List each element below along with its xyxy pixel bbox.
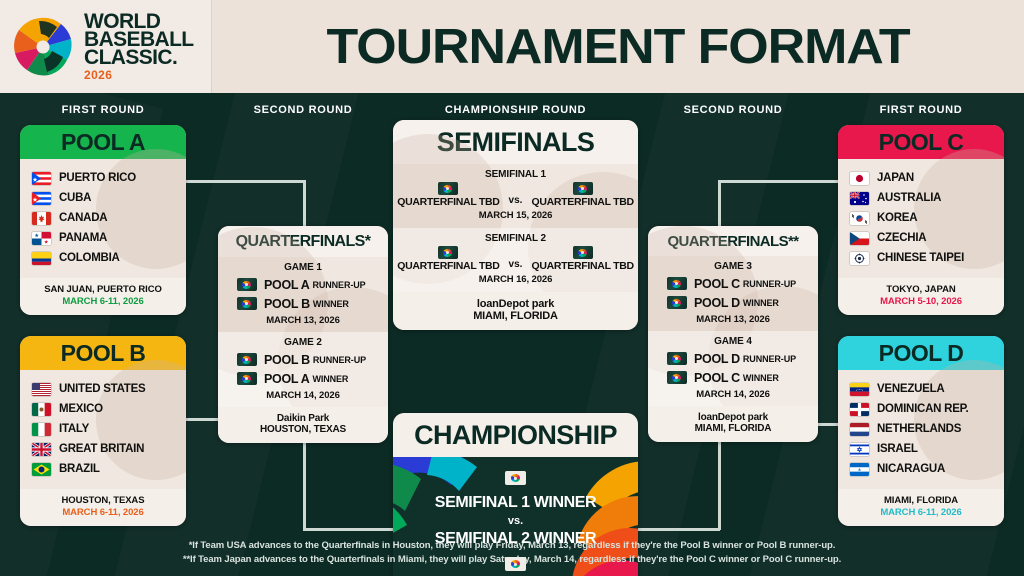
- connector-qf-left-up: [303, 180, 306, 226]
- venue-name: loanDepot park: [393, 298, 638, 310]
- netherlands-flag-icon: [850, 423, 869, 436]
- championship-team-1: SEMIFINAL 1 WINNER: [393, 494, 638, 512]
- quarterfinals-right-body: GAME 3 POOL C RUNNER-UP POOL D WINNER MA…: [648, 256, 818, 406]
- team-name: GREAT BRITAIN: [59, 443, 144, 455]
- pool-c-team-list: JAPAN: [838, 159, 1004, 272]
- team-name: KOREA: [877, 212, 917, 224]
- list-item: DOMINICAN REP.: [838, 399, 1004, 419]
- semifinal-right-team: QUARTERFINAL TBD: [531, 196, 633, 208]
- list-item: PUERTO RICO: [20, 168, 186, 188]
- list-item: UNITED STATES: [20, 379, 186, 399]
- list-item: ISRAEL: [838, 439, 1004, 459]
- quarterfinals-left-title: QUARTERFINALS*: [218, 226, 388, 257]
- matchup-team-sub: WINNER: [313, 299, 349, 309]
- round-label-second-left: SECOND ROUND: [218, 104, 388, 116]
- matchup-team-sub: RUNNER-UP: [743, 354, 796, 364]
- pool-d-dates: MARCH 6-11, 2026: [838, 507, 1004, 518]
- game-date: MARCH 13, 2026: [218, 315, 388, 326]
- wbc-pinwheel-logo-icon: [10, 14, 76, 80]
- japan-flag-icon: [850, 172, 869, 185]
- pool-c-header: POOL C: [838, 125, 1004, 159]
- list-item: CUBA: [20, 188, 186, 208]
- matchup-row: POOL D WINNER: [648, 293, 818, 312]
- semifinal-left-team: QUARTERFINAL TBD: [397, 196, 499, 208]
- wbc-logo-chip-icon: [237, 278, 257, 291]
- colombia-flag-icon: [32, 252, 51, 265]
- quarterfinals-left-card[interactable]: QUARTERFINALS* GAME 1 POOL A RUNNER-UP P…: [218, 226, 388, 443]
- venue-name: loanDepot park: [648, 412, 818, 423]
- team-name: PUERTO RICO: [59, 172, 136, 184]
- matchup-team-sub: WINNER: [312, 374, 348, 384]
- list-item: BRAZIL: [20, 459, 186, 479]
- matchup-team-main: POOL D: [694, 296, 740, 310]
- team-name: MEXICO: [59, 403, 103, 415]
- bracket-board: FIRST ROUND SECOND ROUND CHAMPIONSHIP RO…: [0, 93, 1024, 576]
- list-item: KOREA: [838, 208, 1004, 228]
- list-item: CHINESE TAIPEI: [838, 248, 1004, 268]
- venue-city: MIAMI, FLORIDA: [393, 310, 638, 322]
- czechia-flag-icon: [850, 232, 869, 245]
- dominican-republic-flag-icon: [850, 403, 869, 416]
- game-block: GAME 2 POOL B RUNNER-UP POOL A WINNER MA…: [218, 332, 388, 407]
- matchup-team-sub: WINNER: [743, 373, 779, 383]
- wbc-logo-chip-icon: [438, 246, 458, 259]
- team-name: ITALY: [59, 423, 89, 435]
- semifinal-right-side: QUARTERFINAL TBD: [531, 182, 633, 208]
- pool-d-header: POOL D: [838, 336, 1004, 370]
- semifinal-left-side: QUARTERFINAL TBD: [397, 246, 499, 272]
- nicaragua-flag-icon: [850, 463, 869, 476]
- pool-c-footer: TOKYO, JAPAN MARCH 5-10, 2026: [838, 278, 1004, 315]
- list-item: NICARAGUA: [838, 459, 1004, 479]
- pool-a-dates: MARCH 6-11, 2026: [20, 296, 186, 307]
- semifinal-label: SEMIFINAL 1: [393, 169, 638, 180]
- semifinal-block: SEMIFINAL 2 QUARTERFINAL TBD vs. QUARTER…: [393, 228, 638, 292]
- semifinals-venue: loanDepot park MIAMI, FLORIDA: [393, 292, 638, 330]
- championship-card[interactable]: CHAMPIONSHIP: [393, 413, 638, 576]
- round-label-second-right: SECOND ROUND: [648, 104, 818, 116]
- list-item: PANAMA: [20, 228, 186, 248]
- matchup-row: POOL B RUNNER-UP: [218, 350, 388, 369]
- pool-card-a[interactable]: POOL A PUERTO RICO: [20, 125, 186, 315]
- wbc-logo-wordmark: WORLD BASEBALL CLASSIC. 2026: [84, 13, 194, 81]
- round-label-first-right: FIRST ROUND: [838, 104, 1004, 116]
- team-name: VENEZUELA: [877, 383, 944, 395]
- semifinal-date: MARCH 15, 2026: [393, 210, 638, 221]
- pool-b-header: POOL B: [20, 336, 186, 370]
- game-date: MARCH 14, 2026: [218, 390, 388, 401]
- wbc-logo-chip-icon: [667, 371, 687, 384]
- venezuela-flag-icon: [850, 383, 869, 396]
- puerto-rico-flag-icon: [32, 172, 51, 185]
- pool-d-title: POOL D: [879, 340, 964, 367]
- list-item: COLOMBIA: [20, 248, 186, 268]
- matchup-team-main: POOL C: [694, 371, 740, 385]
- team-name: ISRAEL: [877, 443, 918, 455]
- pool-a-header: POOL A: [20, 125, 186, 159]
- championship-content: SEMIFINAL 1 WINNER vs. SEMIFINAL 2 WINNE…: [393, 471, 638, 576]
- game-date: MARCH 14, 2026: [648, 389, 818, 400]
- game-label: GAME 1: [218, 262, 388, 273]
- list-item: CANADA: [20, 208, 186, 228]
- semifinals-card[interactable]: SEMIFINALS SEMIFINAL 1 QUARTERFINAL TBD …: [393, 120, 638, 330]
- semifinals-title: SEMIFINALS: [393, 120, 638, 164]
- connector-qf-right-to-center: [628, 528, 720, 531]
- matchup-team-main: POOL C: [694, 277, 740, 291]
- championship-team-2: SEMIFINAL 2 WINNER: [393, 530, 638, 548]
- semifinal-right-team: QUARTERFINAL TBD: [531, 260, 633, 272]
- matchup-team-sub: RUNNER-UP: [312, 280, 365, 290]
- matchup-team-main: POOL A: [264, 278, 309, 292]
- connector-qf-left-to-center: [303, 528, 403, 531]
- versus-label: vs.: [509, 248, 523, 270]
- game-label: GAME 3: [648, 261, 818, 272]
- wbc-logo-chip-icon: [505, 471, 526, 485]
- australia-flag-icon: [850, 192, 869, 205]
- list-item: VENEZUELA: [838, 379, 1004, 399]
- team-name: PANAMA: [59, 232, 107, 244]
- team-name: NICARAGUA: [877, 463, 945, 475]
- team-name: JAPAN: [877, 172, 914, 184]
- brazil-flag-icon: [32, 463, 51, 476]
- chinese-taipei-flag-icon: [850, 252, 869, 265]
- semifinal-matchup: QUARTERFINAL TBD vs. QUARTERFINAL TBD: [393, 182, 638, 208]
- connector-qf-right-up: [718, 180, 721, 226]
- pool-card-d[interactable]: POOL D: [838, 336, 1004, 526]
- logo-line-classic: CLASSIC.: [84, 49, 194, 67]
- team-name: BRAZIL: [59, 463, 100, 475]
- list-item: CZECHIA: [838, 228, 1004, 248]
- canada-flag-icon: [32, 212, 51, 225]
- matchup-row: POOL A RUNNER-UP: [218, 275, 388, 294]
- italy-flag-icon: [32, 423, 51, 436]
- korea-flag-icon: [850, 212, 869, 225]
- page-title: TOURNAMENT FORMAT: [326, 19, 909, 75]
- list-item: MEXICO: [20, 399, 186, 419]
- pool-card-c[interactable]: POOL C JAPAN: [838, 125, 1004, 315]
- quarterfinals-left-venue: Daikin Park HOUSTON, TEXAS: [218, 407, 388, 443]
- pool-c-title: POOL C: [879, 129, 964, 156]
- semifinal-block: SEMIFINAL 1 QUARTERFINAL TBD vs. QUARTER…: [393, 164, 638, 228]
- round-label-championship: CHAMPIONSHIP ROUND: [393, 104, 638, 116]
- great-britain-flag-icon: [32, 443, 51, 456]
- semifinal-date: MARCH 16, 2026: [393, 274, 638, 285]
- connector-pool-c-horizontal: [718, 180, 838, 183]
- pool-b-title: POOL B: [61, 340, 146, 367]
- semifinals-body: SEMIFINAL 1 QUARTERFINAL TBD vs. QUARTER…: [393, 164, 638, 292]
- united-states-flag-icon: [32, 383, 51, 396]
- pool-a-team-list: PUERTO RICO CUBA: [20, 159, 186, 272]
- championship-body: SEMIFINAL 1 WINNER vs. SEMIFINAL 2 WINNE…: [393, 457, 638, 576]
- wbc-logo-chip-icon: [667, 352, 687, 365]
- page-title-zone: TOURNAMENT FORMAT: [212, 0, 1024, 93]
- team-name: AUSTRALIA: [877, 192, 941, 204]
- wbc-logo-chip-icon: [667, 296, 687, 309]
- tournament-format-graphic: WORLD BASEBALL CLASSIC. 2026 TOURNAMENT …: [0, 0, 1024, 576]
- wbc-logo-chip-icon: [438, 182, 458, 195]
- matchup-team-sub: WINNER: [743, 298, 779, 308]
- semifinal-label: SEMIFINAL 2: [393, 233, 638, 244]
- pool-b-footer: HOUSTON, TEXAS MARCH 6-11, 2026: [20, 489, 186, 526]
- matchup-team-main: POOL D: [694, 352, 740, 366]
- pool-b-team-list: UNITED STATES MEXICO: [20, 370, 186, 483]
- versus-label: vs.: [393, 515, 638, 527]
- matchup-team-main: POOL B: [264, 353, 310, 367]
- game-block: GAME 4 POOL D RUNNER-UP POOL C WINNER MA…: [648, 331, 818, 406]
- wbc-logo-chip-icon: [667, 277, 687, 290]
- semifinal-left-side: QUARTERFINAL TBD: [397, 182, 499, 208]
- pool-d-team-list: VENEZUELA DOMINICAN REP.: [838, 370, 1004, 483]
- mexico-flag-icon: [32, 403, 51, 416]
- matchup-team-main: POOL B: [264, 297, 310, 311]
- list-item: NETHERLANDS: [838, 419, 1004, 439]
- versus-label: vs.: [509, 184, 523, 206]
- game-date: MARCH 13, 2026: [648, 314, 818, 325]
- israel-flag-icon: [850, 443, 869, 456]
- team-name: DOMINICAN REP.: [877, 403, 969, 415]
- round-label-first-left: FIRST ROUND: [20, 104, 186, 116]
- game-block: GAME 3 POOL C RUNNER-UP POOL D WINNER MA…: [648, 256, 818, 331]
- quarterfinals-right-venue: loanDepot park MIAMI, FLORIDA: [648, 406, 818, 442]
- game-label: GAME 2: [218, 337, 388, 348]
- semifinal-left-team: QUARTERFINAL TBD: [397, 260, 499, 272]
- semifinal-matchup: QUARTERFINAL TBD vs. QUARTERFINAL TBD: [393, 246, 638, 272]
- pool-b-dates: MARCH 6-11, 2026: [20, 507, 186, 518]
- pool-a-title: POOL A: [61, 129, 145, 156]
- pool-d-venue: MIAMI, FLORIDA: [838, 495, 1004, 506]
- wbc-logo-chip-icon: [573, 182, 593, 195]
- team-name: UNITED STATES: [59, 383, 145, 395]
- list-item: GREAT BRITAIN: [20, 439, 186, 459]
- team-name: CUBA: [59, 192, 91, 204]
- wbc-logo-chip-icon: [573, 246, 593, 259]
- matchup-team-main: POOL A: [264, 372, 309, 386]
- pool-a-footer: SAN JUAN, PUERTO RICO MARCH 6-11, 2026: [20, 278, 186, 315]
- quarterfinals-left-body: GAME 1 POOL A RUNNER-UP POOL B WINNER MA…: [218, 257, 388, 407]
- matchup-team-sub: RUNNER-UP: [743, 279, 796, 289]
- matchup-team-sub: RUNNER-UP: [313, 355, 366, 365]
- cuba-flag-icon: [32, 192, 51, 205]
- venue-city: MIAMI, FLORIDA: [648, 423, 818, 434]
- team-name: CZECHIA: [877, 232, 926, 244]
- game-block: GAME 1 POOL A RUNNER-UP POOL B WINNER MA…: [218, 257, 388, 332]
- team-name: CHINESE TAIPEI: [877, 252, 964, 264]
- wbc-logo-chip-icon: [237, 372, 257, 385]
- matchup-row: POOL C WINNER: [648, 368, 818, 387]
- pool-d-footer: MIAMI, FLORIDA MARCH 6-11, 2026: [838, 489, 1004, 526]
- quarterfinals-right-title: QUARTERFINALS**: [648, 226, 818, 256]
- pool-a-venue: SAN JUAN, PUERTO RICO: [20, 284, 186, 295]
- team-name: COLOMBIA: [59, 252, 120, 264]
- list-item: AUSTRALIA: [838, 188, 1004, 208]
- semifinal-right-side: QUARTERFINAL TBD: [531, 246, 633, 272]
- header-bar: WORLD BASEBALL CLASSIC. 2026 TOURNAMENT …: [0, 0, 1024, 93]
- connector-pool-a-horizontal: [186, 180, 306, 183]
- wbc-logo-chip-icon: [237, 297, 257, 310]
- logo-year: 2026: [84, 70, 194, 81]
- venue-city: HOUSTON, TEXAS: [218, 424, 388, 435]
- wbc-logo-chip-icon: [505, 557, 526, 571]
- team-name: CANADA: [59, 212, 107, 224]
- list-item: JAPAN: [838, 168, 1004, 188]
- pool-b-venue: HOUSTON, TEXAS: [20, 495, 186, 506]
- panama-flag-icon: [32, 232, 51, 245]
- team-name: NETHERLANDS: [877, 423, 961, 435]
- quarterfinals-right-card[interactable]: QUARTERFINALS** GAME 3 POOL C RUNNER-UP …: [648, 226, 818, 442]
- pool-c-dates: MARCH 5-10, 2026: [838, 296, 1004, 307]
- game-label: GAME 4: [648, 336, 818, 347]
- pool-c-venue: TOKYO, JAPAN: [838, 284, 1004, 295]
- venue-name: Daikin Park: [218, 413, 388, 424]
- matchup-row: POOL C RUNNER-UP: [648, 274, 818, 293]
- pool-card-b[interactable]: POOL B UNITED STATES: [20, 336, 186, 526]
- wbc-logo-chip-icon: [237, 353, 257, 366]
- matchup-row: POOL A WINNER: [218, 369, 388, 388]
- matchup-row: POOL B WINNER: [218, 294, 388, 313]
- matchup-row: POOL D RUNNER-UP: [648, 349, 818, 368]
- championship-title: CHAMPIONSHIP: [393, 413, 638, 457]
- list-item: ITALY: [20, 419, 186, 439]
- wbc-logo-block: WORLD BASEBALL CLASSIC. 2026: [0, 0, 212, 93]
